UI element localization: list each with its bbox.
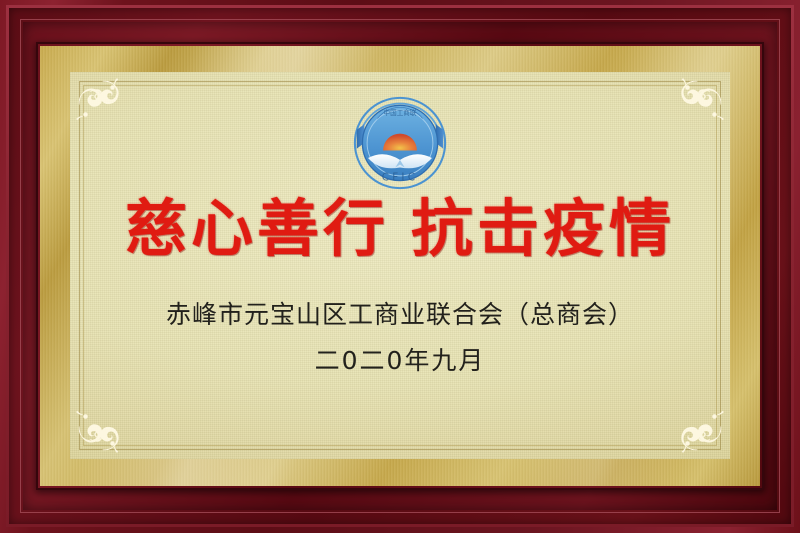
plaque-content: 中国工商联 CFIC 慈心善行抗击疫情 赤峰市元宝山区工商业联合会（总商会） 二… — [70, 72, 730, 459]
inner-panel: 中国工商联 CFIC 慈心善行抗击疫情 赤峰市元宝山区工商业联合会（总商会） 二… — [70, 72, 730, 459]
svg-text:CFIC: CFIC — [382, 172, 419, 184]
award-plaque: 中国工商联 CFIC 慈心善行抗击疫情 赤峰市元宝山区工商业联合会（总商会） 二… — [0, 0, 800, 533]
page-title: 慈心善行抗击疫情 — [125, 196, 675, 261]
issue-date: 二0二0年九月 — [315, 341, 486, 377]
issuing-organization: 赤峰市元宝山区工商业联合会（总商会） — [166, 295, 634, 331]
title-part-1: 慈心善行 — [125, 192, 389, 265]
gold-plate: 中国工商联 CFIC 慈心善行抗击疫情 赤峰市元宝山区工商业联合会（总商会） 二… — [40, 46, 760, 486]
title-part-2: 抗击疫情 — [411, 192, 675, 265]
cfic-emblem-icon: 中国工商联 CFIC — [353, 96, 447, 190]
svg-text:中国工商联: 中国工商联 — [384, 108, 417, 117]
